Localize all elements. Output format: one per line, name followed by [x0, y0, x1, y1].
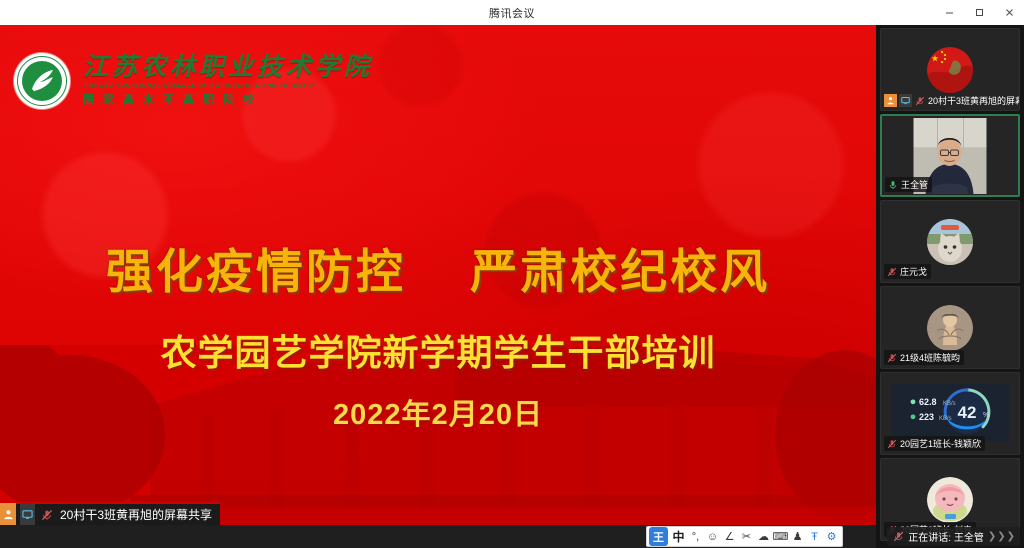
- mic-muted-icon: [914, 94, 926, 107]
- gauge-up-value: 62.8: [919, 396, 937, 406]
- gauge-percent-unit: %: [983, 411, 989, 418]
- college-name-en: JIANGSU VOCATIONAL COLLEGE OF AGRICULTUR…: [83, 83, 373, 89]
- screen-share-banner: 20村干3班黄再旭的屏幕共享: [0, 502, 220, 525]
- slide-date: 2022年2月20日: [0, 391, 876, 433]
- gauge-down-unit: KB/s: [939, 415, 952, 421]
- mic-muted-icon: [892, 531, 904, 543]
- ime-mode-toggle[interactable]: 中: [670, 527, 687, 546]
- participant-name: 20园艺1班长-钱颖欣: [900, 437, 981, 450]
- mic-muted-icon: [886, 266, 897, 277]
- presentation-slide: 江苏农林职业技术学院 JIANGSU VOCATIONAL COLLEGE OF…: [0, 25, 876, 525]
- ime-toolbar[interactable]: 王 中 °, ☺ ∠ ✂ ☁ ⌨ ♟ Ŧ ⚙: [646, 526, 843, 547]
- gear-icon[interactable]: ⚙: [823, 527, 840, 546]
- slide-subhead: 农学园艺学院新学期学生干部培训: [0, 324, 876, 376]
- college-emblem-icon: [14, 53, 70, 109]
- participant-tile[interactable]: 20村干3班黄再旭的屏幕共享: [880, 28, 1020, 111]
- chevron-right-icon[interactable]: ❯❯❯: [988, 531, 1015, 542]
- leaf-glyph-icon: [28, 67, 56, 95]
- screen-share-icon: [20, 503, 35, 525]
- close-button[interactable]: [994, 0, 1024, 25]
- skin-icon[interactable]: Ŧ: [806, 527, 823, 546]
- emoji-icon[interactable]: ☺: [704, 527, 721, 546]
- minimize-button[interactable]: [934, 0, 964, 25]
- participant-tile[interactable]: 庄元戈: [880, 200, 1020, 283]
- participant-name: 庄元戈: [900, 265, 927, 278]
- participant-name: 21级4班陈毓昀: [900, 351, 960, 364]
- scissors-icon[interactable]: ✂: [738, 527, 755, 546]
- participant-name: 王全管: [901, 178, 928, 191]
- window-title: 腾讯会议: [489, 5, 535, 21]
- college-tagline: 国家高水平高职院校: [83, 91, 373, 107]
- pen-icon[interactable]: ∠: [721, 527, 738, 546]
- share-banner-label: 20村干3班黄再旭的屏幕共享: [58, 506, 212, 523]
- title-bar: 腾讯会议: [0, 0, 1024, 25]
- participant-name-chip: 王全管: [885, 177, 932, 192]
- active-speaker-chip[interactable]: 正在讲话: 王全管 ❯❯❯: [887, 527, 1020, 546]
- avatar: [927, 47, 973, 93]
- participant-name: 20村干3班黄再旭的屏幕共享: [928, 94, 1020, 107]
- mic-muted-icon: [39, 503, 54, 525]
- tencent-meeting-window: 腾讯会议: [0, 0, 1024, 548]
- participant-name-chip: 20园艺1班长-钱颖欣: [884, 436, 985, 451]
- participant-name-chip: 庄元戈: [884, 264, 931, 279]
- cloud-icon[interactable]: ☁: [755, 527, 772, 546]
- window-controls: [934, 0, 1024, 25]
- punctuation-icon[interactable]: °,: [687, 527, 704, 546]
- avatar: [927, 219, 973, 265]
- mic-muted-icon: [886, 438, 897, 449]
- mic-muted-icon: [886, 352, 897, 363]
- avatar: [927, 477, 973, 523]
- screen-share-icon: [899, 94, 912, 107]
- avatar: [927, 305, 973, 351]
- college-logo: 江苏农林职业技术学院 JIANGSU VOCATIONAL COLLEGE OF…: [14, 53, 373, 109]
- network-gauge-avatar: 42 % 62.8 KB/s 223 KB/s: [891, 383, 1009, 441]
- participant-tile[interactable]: 21级4班陈毓昀: [880, 286, 1020, 369]
- participant-name-chip: 21级4班陈毓昀: [884, 350, 964, 365]
- maximize-button[interactable]: [964, 0, 994, 25]
- participant-rail[interactable]: 20村干3班黄再旭的屏幕共享: [876, 25, 1024, 548]
- person-icon: [884, 94, 897, 107]
- gauge-down-value: 223: [919, 411, 934, 421]
- person-icon[interactable]: ♟: [789, 527, 806, 546]
- slide-headline: 强化疫情防控 严肃校纪校风: [0, 233, 876, 302]
- college-name-cn: 江苏农林职业技术学院: [83, 55, 373, 81]
- person-icon: [0, 503, 16, 525]
- ime-logo-icon[interactable]: 王: [649, 527, 668, 546]
- status-bar: 正在讲话: 王全管 ❯❯❯: [0, 525, 1024, 548]
- active-speaker-label: 正在讲话: 王全管: [908, 529, 984, 544]
- participant-tile[interactable]: 王全管: [880, 114, 1020, 197]
- mic-active-icon: [887, 179, 898, 190]
- shared-screen-stage[interactable]: 江苏农林职业技术学院 JIANGSU VOCATIONAL COLLEGE OF…: [0, 25, 876, 525]
- gauge-up-unit: KB/s: [943, 400, 956, 406]
- tile-badges: 20村干3班黄再旭的屏幕共享: [884, 94, 1020, 107]
- gauge-percent: 42: [958, 402, 977, 421]
- keyboard-icon[interactable]: ⌨: [772, 527, 789, 546]
- participant-tile[interactable]: 42 % 62.8 KB/s 223 KB/s 20园艺1班长-钱颖欣: [880, 372, 1020, 455]
